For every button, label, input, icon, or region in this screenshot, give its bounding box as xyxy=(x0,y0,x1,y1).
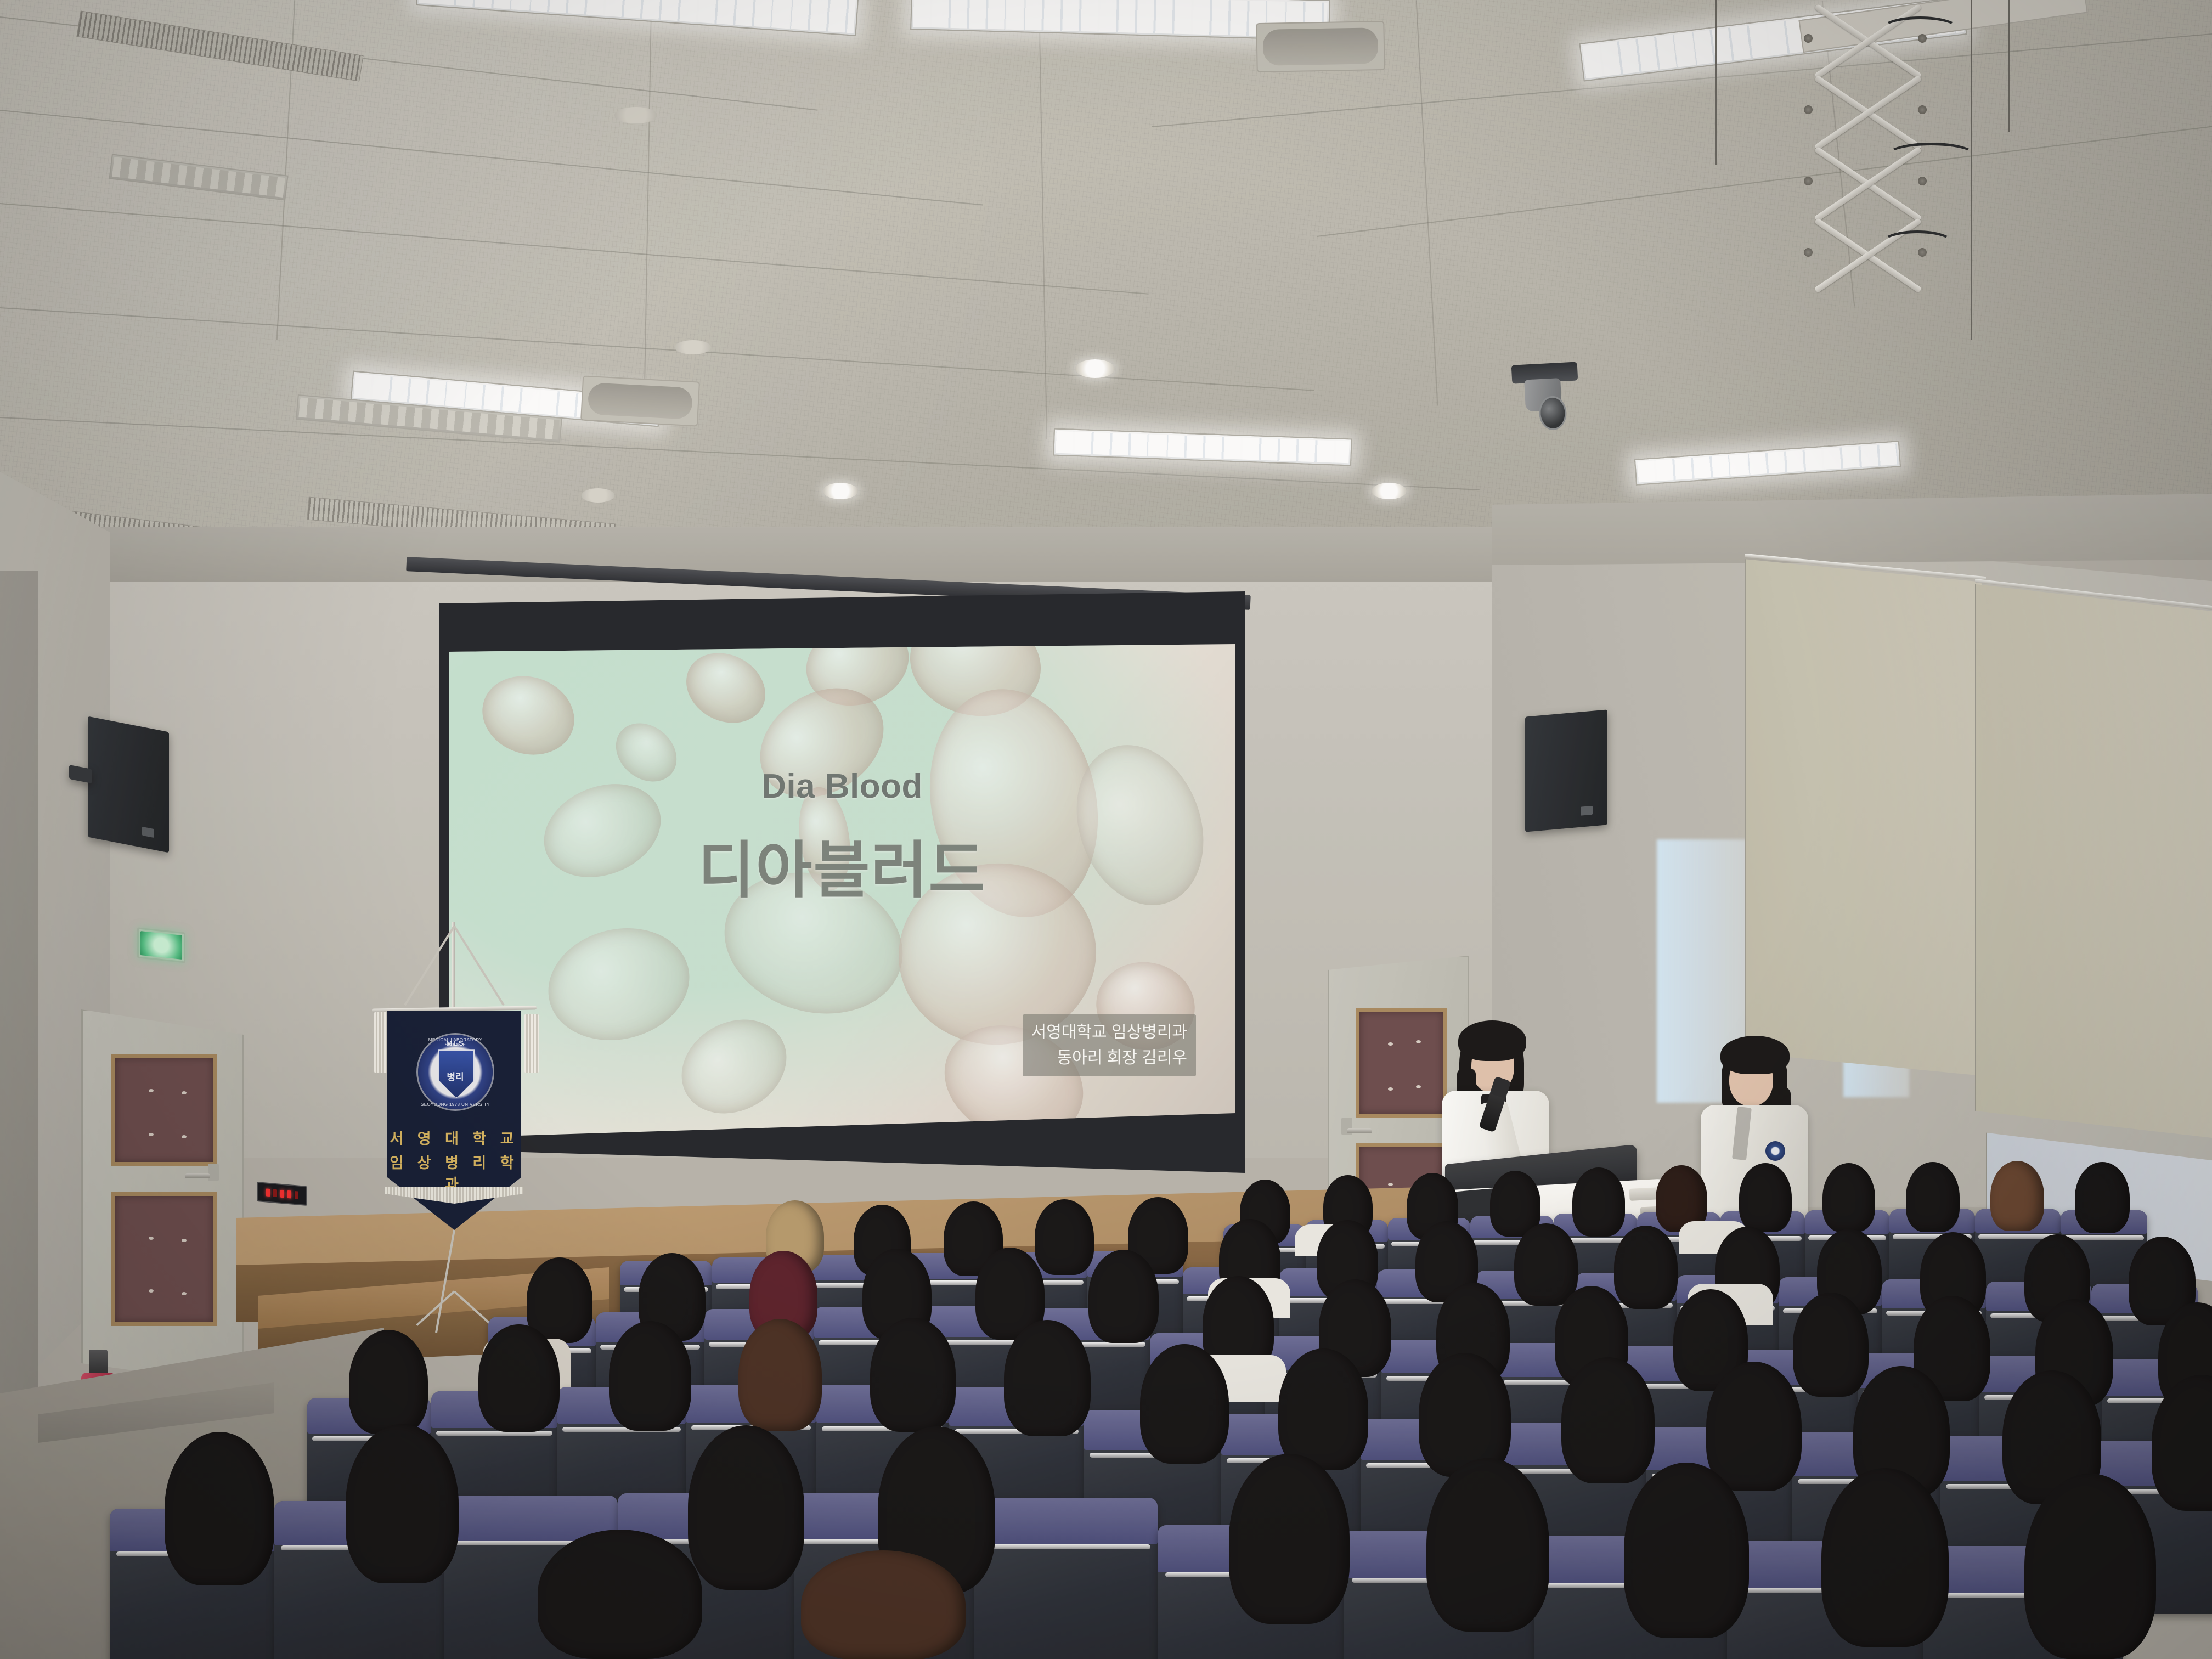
slide-credit-block: 서영대학교 임상병리과 동아리 회장 김리우 xyxy=(1023,1014,1196,1076)
door-handle[interactable] xyxy=(185,1173,210,1178)
audience-person xyxy=(1821,1468,1949,1647)
downlight xyxy=(1372,483,1407,499)
banner-stand-leg xyxy=(416,1291,455,1327)
exit-sign-lamp-icon xyxy=(140,931,182,960)
door-panel-upper xyxy=(111,1054,217,1166)
projector-scissor-mount xyxy=(1799,0,2085,340)
emergency-exit-sign xyxy=(137,927,185,963)
audience-person xyxy=(1088,1250,1159,1343)
presenter-hair-top xyxy=(1458,1020,1526,1061)
door-panel-lower xyxy=(111,1192,217,1326)
audience-person xyxy=(1514,1223,1578,1306)
wall-speaker-right xyxy=(1525,709,1607,832)
camera-lens-icon xyxy=(1538,396,1567,431)
banner-fringe xyxy=(385,1187,523,1204)
audience-person xyxy=(1706,1362,1802,1491)
ceiling-camera xyxy=(1511,361,1592,436)
audience-person xyxy=(1229,1454,1350,1624)
projection-screen[interactable]: Dia Blood 디아블러드 서영대학교 임상병리과 동아리 회장 김리우 xyxy=(449,644,1235,1138)
banner-stand-leg xyxy=(454,1291,493,1327)
led-status-panel xyxy=(257,1182,307,1206)
audience-person xyxy=(738,1319,822,1431)
audience-person xyxy=(1822,1163,1875,1232)
window-roller-blind[interactable] xyxy=(1975,584,2212,1138)
audience-person xyxy=(609,1321,691,1431)
suspension-wire xyxy=(1715,0,1717,165)
banner-stand-leg xyxy=(435,1230,455,1333)
slide-cell-graphic xyxy=(472,664,585,766)
scissor-joint xyxy=(1804,248,1813,257)
department-emblem: MEDICAL LABORATORY SCIENCE MLS 병리 SEOYOU… xyxy=(418,1035,493,1109)
audience-person xyxy=(1035,1199,1094,1275)
audience-person xyxy=(1278,1348,1368,1470)
audience-person xyxy=(870,1318,956,1432)
banner-tassel xyxy=(524,1014,539,1073)
downlight xyxy=(823,483,858,499)
audience-person xyxy=(1572,1167,1625,1237)
lecture-hall-photo: Dia Blood 디아블러드 서영대학교 임상병리과 동아리 회장 김리우 xyxy=(0,0,2212,1659)
downlight xyxy=(1075,359,1115,378)
downlight xyxy=(675,340,711,354)
suspension-wire xyxy=(1971,0,1972,340)
audience-person xyxy=(1419,1353,1511,1477)
audience-person xyxy=(2024,1474,2156,1659)
ceiling xyxy=(0,0,2212,560)
emblem-ring-bottom-text: SEOYOUNG 1978 UNIVERSITY xyxy=(418,1102,493,1107)
assistant-hair-top xyxy=(1720,1036,1790,1074)
downlight xyxy=(582,488,614,503)
audience-person xyxy=(478,1324,560,1432)
audience-person xyxy=(688,1425,804,1590)
scissor-joint xyxy=(1804,177,1813,185)
left-wall-return xyxy=(0,571,38,1404)
door-handle[interactable] xyxy=(1347,1128,1372,1133)
slide-title-korean: 디아블러드 xyxy=(449,821,1235,910)
audience-person xyxy=(1614,1226,1678,1309)
wall-speaker-left xyxy=(88,716,169,853)
slide-cell-graphic xyxy=(537,914,702,1055)
audience-person xyxy=(538,1530,702,1659)
banner-pole xyxy=(452,922,455,1009)
power-cable xyxy=(1887,143,1975,225)
speaker-badge-icon xyxy=(142,827,154,838)
scissor-joint xyxy=(1918,105,1927,114)
slide-credit-line-2: 동아리 회장 김리우 xyxy=(1031,1046,1187,1071)
audience-person xyxy=(1561,1357,1655,1483)
wall-soffit xyxy=(99,527,1503,582)
left-exit-door[interactable] xyxy=(81,1009,244,1386)
audience-person xyxy=(1990,1161,2044,1231)
door-escutcheon xyxy=(208,1164,219,1181)
suspension-wire xyxy=(2008,0,2010,132)
audience-person xyxy=(1739,1163,1792,1232)
audience-person xyxy=(1906,1162,1960,1232)
projection-screen-frame: Dia Blood 디아블러드 서영대학교 임상병리과 동아리 회장 김리우 xyxy=(439,591,1245,1173)
audience-person xyxy=(1426,1458,1549,1632)
audience-person xyxy=(346,1424,459,1583)
window-roller-blind[interactable] xyxy=(1745,559,1982,1076)
downlight xyxy=(614,107,657,123)
slide-credit-line-1: 서영대학교 임상병리과 xyxy=(1031,1020,1187,1046)
audience-person xyxy=(1004,1320,1091,1436)
extinguisher-head xyxy=(89,1350,108,1376)
banner-tassel xyxy=(374,1012,388,1073)
speaker-badge-icon xyxy=(1581,806,1593,816)
department-banner: MEDICAL LABORATORY SCIENCE MLS 병리 SEOYOU… xyxy=(366,992,542,1332)
audience-person xyxy=(165,1432,274,1585)
emblem-mls-text: MLS xyxy=(418,1039,493,1047)
emblem-symbol-text: 병리 xyxy=(418,1069,493,1083)
power-cable xyxy=(1882,230,1953,296)
audience-person xyxy=(1793,1293,1869,1397)
slide-cell-graphic xyxy=(674,644,778,736)
slide-cell-graphic xyxy=(664,1001,803,1132)
hvac-vent-plate xyxy=(580,375,700,426)
scissor-joint xyxy=(1804,105,1813,114)
scissor-joint xyxy=(1804,34,1813,43)
audience-person xyxy=(349,1330,428,1434)
power-cable xyxy=(1882,16,1959,88)
audience-person xyxy=(1140,1344,1229,1464)
banner-text-line-1: 서 영 대 학 교 xyxy=(387,1127,521,1148)
audience-person xyxy=(1624,1463,1749,1638)
hvac-vent-plate xyxy=(1256,21,1385,72)
coat-shoulder-emblem-icon xyxy=(1765,1141,1785,1161)
slide-title-english: Dia Blood xyxy=(449,767,1235,806)
audience-person xyxy=(2075,1162,2130,1233)
seat xyxy=(974,1498,1158,1659)
audience-person xyxy=(801,1550,966,1659)
